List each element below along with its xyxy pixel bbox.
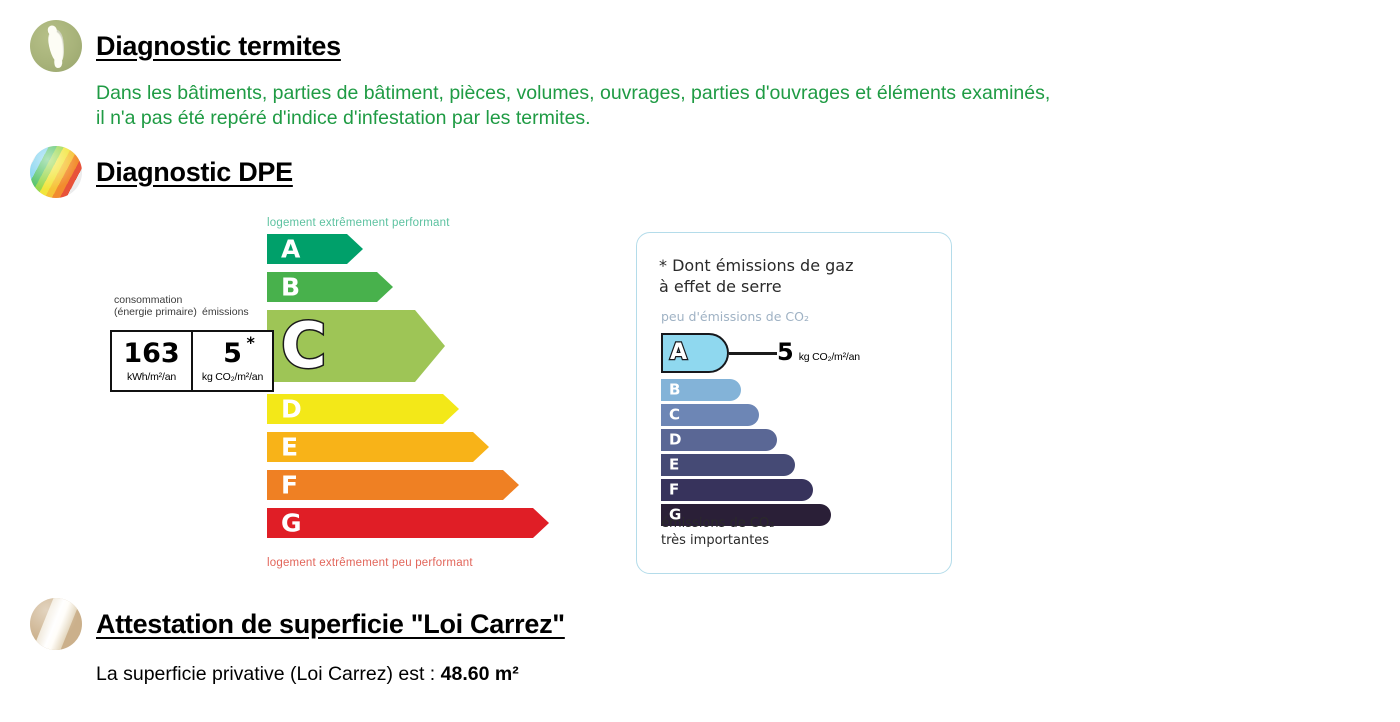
- dpe-bar-shape-g: [267, 508, 549, 538]
- termite-icon: [30, 20, 82, 72]
- dpe-consumption-unit: kWh/m²/an: [127, 371, 176, 383]
- dpe-bar-a: A: [267, 234, 363, 264]
- ges-bar-letter-d: D: [669, 433, 681, 448]
- ges-value: 5: [777, 338, 794, 366]
- dpe-emissions-value: 5*: [223, 340, 242, 367]
- dpe-title: Diagnostic DPE: [96, 157, 293, 188]
- dpe-bar-shape-f: [267, 470, 519, 500]
- ges-bar-f: F: [661, 479, 813, 501]
- ges-bar-c: C: [661, 404, 759, 426]
- termites-description: Dans les bâtiments, parties de bâtiment,…: [96, 81, 1400, 131]
- dpe-consumption-value: 163: [123, 340, 179, 367]
- dpe-emissions-unit: kg CO₂/m²/an: [202, 371, 263, 383]
- ges-leader-line: [729, 352, 777, 355]
- section-diagnostic-dpe: Diagnostic DPE: [30, 146, 293, 198]
- ges-bar-letter-f: F: [669, 483, 679, 498]
- ges-bottom-legend: émissions de CO₂ très importantes: [661, 515, 774, 549]
- dpe-consumption-caption: consommation (énergie primaire): [114, 294, 197, 318]
- dpe-bar-letter-f: F: [281, 473, 298, 498]
- ges-note-text: Dont émissions de gaz à effet de serre: [659, 256, 854, 296]
- ges-bar-letter-e: E: [669, 458, 679, 473]
- rainbow-icon: [30, 146, 82, 198]
- dpe-bar-c: C: [267, 310, 445, 382]
- ges-bar-a: A: [661, 333, 729, 373]
- ges-bar-e: E: [661, 454, 795, 476]
- section-attestation-carrez: Attestation de superficie "Loi Carrez" L…: [30, 598, 565, 687]
- dpe-header: Diagnostic DPE: [30, 146, 293, 198]
- dpe-bar-letter-a: A: [281, 237, 300, 262]
- dpe-bar-letter-c: C: [281, 315, 327, 377]
- dpe-emissions-cell: 5* kg CO₂/m²/an: [191, 332, 272, 390]
- ges-value-annotation: 5 kg CO₂/m²/an: [777, 338, 860, 366]
- ges-bar-d: D: [661, 429, 777, 451]
- carrez-description: La superficie privative (Loi Carrez) est…: [96, 662, 565, 687]
- ges-bar-letter-c: C: [669, 408, 680, 423]
- ges-note: * Dont émissions de gaz à effet de serre: [659, 255, 854, 297]
- carrez-icon: [30, 598, 82, 650]
- dpe-value-box: 163 kWh/m²/an 5* kg CO₂/m²/an: [110, 330, 274, 392]
- dpe-bar-letter-b: B: [281, 275, 300, 300]
- ges-bar-b: B: [661, 379, 741, 401]
- ges-bar-letter-b: B: [669, 383, 680, 398]
- ges-panel: * Dont émissions de gaz à effet de serre…: [636, 232, 952, 574]
- carrez-header: Attestation de superficie "Loi Carrez": [30, 598, 565, 650]
- ges-bar-letter-a: A: [670, 342, 687, 364]
- dpe-bar-f: F: [267, 470, 519, 500]
- carrez-title: Attestation de superficie "Loi Carrez": [96, 609, 565, 640]
- ges-top-legend: peu d'émissions de CO₂: [661, 309, 809, 324]
- dpe-bar-b: B: [267, 272, 393, 302]
- ges-note-asterisk: *: [659, 256, 667, 275]
- dpe-consumption-cell: 163 kWh/m²/an: [112, 332, 191, 390]
- termites-title: Diagnostic termites: [96, 31, 341, 62]
- dpe-top-legend: logement extrêmement performant: [267, 217, 450, 229]
- dpe-bar-d: D: [267, 394, 459, 424]
- dpe-bar-letter-e: E: [281, 435, 298, 460]
- dpe-emissions-caption: émissions: [202, 306, 249, 318]
- dpe-bar-letter-d: D: [281, 397, 302, 422]
- dpe-bar-e: E: [267, 432, 489, 462]
- carrez-surface-value: 48.60 m²: [441, 663, 519, 685]
- dpe-bar-letter-g: G: [281, 511, 302, 536]
- dpe-emissions-asterisk: *: [247, 335, 255, 351]
- ges-unit: kg CO₂/m²/an: [799, 351, 860, 363]
- carrez-text-prefix: La superficie privative (Loi Carrez) est…: [96, 663, 441, 685]
- dpe-bar-shape-e: [267, 432, 489, 462]
- termites-header: Diagnostic termites: [30, 20, 1400, 72]
- dpe-bottom-legend: logement extrêmement peu performant: [267, 557, 473, 569]
- section-diagnostic-termites: Diagnostic termites Dans les bâtiments, …: [30, 20, 1400, 131]
- dpe-bar-g: G: [267, 508, 549, 538]
